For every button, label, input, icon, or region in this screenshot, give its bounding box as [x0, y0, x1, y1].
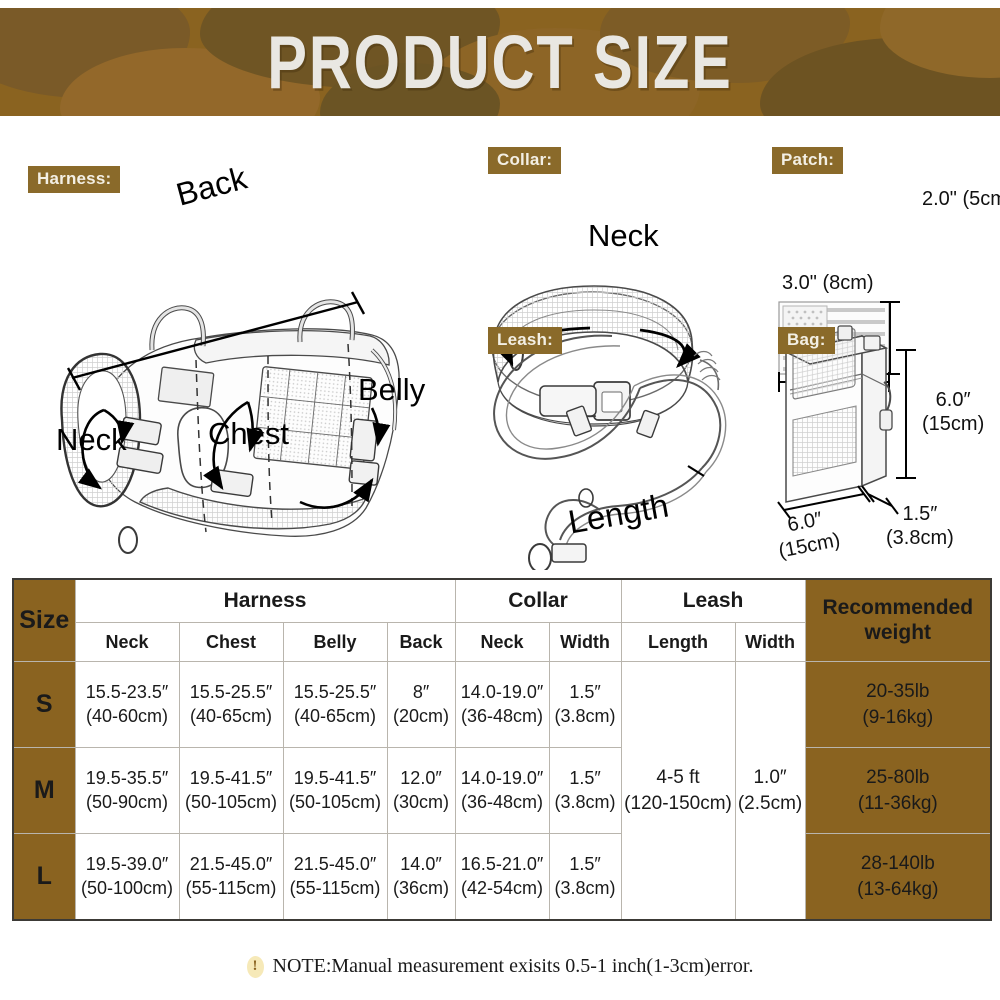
cell-m-harness-back: 12.0″ (30cm)	[387, 748, 455, 834]
bag-section-label: Bag:	[778, 327, 835, 354]
row-size-m: M	[13, 748, 75, 834]
harness-section-label: Harness:	[28, 166, 120, 193]
cell-m-weight: 25-80lb (11-36kg)	[805, 748, 991, 834]
header-group-leash: Leash	[621, 579, 805, 623]
bag-height-line1: 6.0″	[936, 389, 971, 411]
cell-line-in: 15.5-23.5″	[77, 681, 178, 704]
cell-s-harness-belly: 15.5-25.5″ (40-65cm)	[283, 662, 387, 748]
cell-line-cm: (30cm)	[389, 791, 454, 814]
page-header-banner: PRODUCT SIZE	[0, 8, 1000, 116]
cell-line-in: 19.5-41.5″	[285, 767, 386, 790]
header-group-collar: Collar	[455, 579, 621, 623]
cell-l-weight: 28-140lb (13-64kg)	[805, 834, 991, 921]
table-row: L 19.5-39.0″ (50-100cm) 21.5-45.0″ (55-1…	[13, 834, 991, 921]
reco-header-line1: Recommended	[807, 596, 990, 620]
cell-s-harness-chest: 15.5-25.5″ (40-65cm)	[179, 662, 283, 748]
cell-l-harness-belly: 21.5-45.0″ (55-115cm)	[283, 834, 387, 921]
cell-line-in: 16.5-21.0″	[457, 853, 548, 876]
row-size-l: L	[13, 834, 75, 921]
collar-neck-label: Neck	[588, 218, 659, 254]
cell-s-weight: 20-35lb (9-16kg)	[805, 662, 991, 748]
harness-chest-label: Chest	[208, 416, 289, 452]
subheader-harness-chest: Chest	[179, 623, 283, 662]
exclamation-icon: !	[247, 956, 264, 978]
collar-section-label: Collar:	[488, 147, 561, 174]
subheader-leash-width: Width	[735, 623, 805, 662]
cell-line-in: 21.5-45.0″	[181, 853, 282, 876]
cell-line-cm: (50-105cm)	[181, 791, 282, 814]
product-diagram-area: Harness: Collar: Patch: Leash: Bag: Back…	[0, 120, 1000, 570]
cell-line-in: 19.5-41.5″	[181, 767, 282, 790]
bag-depth-line1: 1.5″	[902, 503, 937, 525]
subheader-leash-length: Length	[621, 623, 735, 662]
cell-line-cm: (3.8cm)	[551, 877, 620, 900]
reco-header-line2: weight	[807, 621, 990, 645]
cell-line-cm: (20cm)	[389, 705, 454, 728]
cell-line-in: 21.5-45.0″	[285, 853, 386, 876]
weight-lb: 28-140lb	[807, 851, 990, 877]
leash-width-line1: 1.0″	[737, 765, 804, 791]
row-size-s: S	[13, 662, 75, 748]
subheader-collar-neck: Neck	[455, 623, 549, 662]
cell-s-collar-neck: 14.0-19.0″ (36-48cm)	[455, 662, 549, 748]
cell-m-harness-belly: 19.5-41.5″ (50-105cm)	[283, 748, 387, 834]
cell-line-in: 15.5-25.5″	[181, 681, 282, 704]
cell-line-in: 15.5-25.5″	[285, 681, 386, 704]
weight-lb: 25-80lb	[807, 765, 990, 791]
cell-line-cm: (42-54cm)	[457, 877, 548, 900]
table-row: M 19.5-35.5″ (50-90cm) 19.5-41.5″ (50-10…	[13, 748, 991, 834]
leash-width-line2: (2.5cm)	[737, 791, 804, 817]
cell-line-in: 1.5″	[551, 853, 620, 876]
cell-s-collar-width: 1.5″ (3.8cm)	[549, 662, 621, 748]
cell-m-collar-width: 1.5″ (3.8cm)	[549, 748, 621, 834]
cell-line-cm: (50-105cm)	[285, 791, 386, 814]
harness-belly-label: Belly	[358, 372, 425, 408]
cell-s-harness-back: 8″ (20cm)	[387, 662, 455, 748]
cell-l-harness-back: 14.0″ (36cm)	[387, 834, 455, 921]
bag-height-dimension	[896, 350, 916, 478]
cell-line-in: 14.0-19.0″	[457, 767, 548, 790]
cell-line-cm: (40-60cm)	[77, 705, 178, 728]
cell-line-in: 12.0″	[389, 767, 454, 790]
cell-l-harness-chest: 21.5-45.0″ (55-115cm)	[179, 834, 283, 921]
size-chart-table: Size Harness Collar Leash Recommended we…	[12, 578, 992, 921]
cell-line-cm: (55-115cm)	[181, 877, 282, 900]
patch-height-dimension-text: 2.0" (5cm)	[922, 188, 1000, 211]
bag-depth-dimension-text: 1.5″ (3.8cm)	[886, 502, 954, 550]
cell-line-cm: (36-48cm)	[457, 705, 548, 728]
subheader-collar-width: Width	[549, 623, 621, 662]
weight-kg: (9-16kg)	[807, 705, 990, 731]
cell-line-cm: (40-65cm)	[285, 705, 386, 728]
cell-l-collar-width: 1.5″ (3.8cm)	[549, 834, 621, 921]
cell-line-cm: (40-65cm)	[181, 705, 282, 728]
patch-section-label: Patch:	[772, 147, 843, 174]
cell-m-harness-chest: 19.5-41.5″ (50-105cm)	[179, 748, 283, 834]
cell-m-harness-neck: 19.5-35.5″ (50-90cm)	[75, 748, 179, 834]
leash-length-line1: 4-5 ft	[623, 765, 734, 791]
collar-illustration	[492, 286, 693, 426]
bag-height-dimension-text: 6.0″ (15cm)	[922, 388, 984, 436]
cell-l-collar-neck: 16.5-21.0″ (42-54cm)	[455, 834, 549, 921]
page-title: PRODUCT SIZE	[35, 8, 965, 116]
cell-s-harness-neck: 15.5-23.5″ (40-60cm)	[75, 662, 179, 748]
cell-leash-length-merged: 4-5 ft (120-150cm)	[621, 662, 735, 921]
leash-section-label: Leash:	[488, 327, 562, 354]
table-header-row-groups: Size Harness Collar Leash Recommended we…	[13, 579, 991, 623]
subheader-harness-neck: Neck	[75, 623, 179, 662]
cell-line-cm: (50-100cm)	[77, 877, 178, 900]
cell-line-in: 8″	[389, 681, 454, 704]
cell-line-in: 1.5″	[551, 767, 620, 790]
leash-length-line2: (120-150cm)	[623, 791, 734, 817]
weight-kg: (13-64kg)	[807, 877, 990, 903]
bag-height-line2: (15cm)	[922, 413, 984, 435]
cell-line-cm: (36-48cm)	[457, 791, 548, 814]
cell-line-cm: (3.8cm)	[551, 705, 620, 728]
harness-neck-label: Neck	[56, 422, 127, 458]
cell-line-cm: (36cm)	[389, 877, 454, 900]
cell-line-in: 14.0″	[389, 853, 454, 876]
cell-line-in: 19.5-39.0″	[77, 853, 178, 876]
cell-line-in: 14.0-19.0″	[457, 681, 548, 704]
measurement-note: ! NOTE:Manual measurement exisits 0.5-1 …	[0, 955, 1000, 978]
cell-line-in: 19.5-35.5″	[77, 767, 178, 790]
cell-line-cm: (3.8cm)	[551, 791, 620, 814]
header-size: Size	[13, 579, 75, 662]
cell-line-in: 1.5″	[551, 681, 620, 704]
cell-leash-width-merged: 1.0″ (2.5cm)	[735, 662, 805, 921]
header-group-harness: Harness	[75, 579, 455, 623]
patch-width-dimension-text: 3.0" (8cm)	[782, 272, 874, 295]
header-recommended-weight: Recommended weight	[805, 579, 991, 662]
cell-l-harness-neck: 19.5-39.0″ (50-100cm)	[75, 834, 179, 921]
bag-depth-line2: (3.8cm)	[886, 527, 954, 549]
cell-line-cm: (55-115cm)	[285, 877, 386, 900]
weight-kg: (11-36kg)	[807, 791, 990, 817]
cell-line-cm: (50-90cm)	[77, 791, 178, 814]
subheader-harness-back: Back	[387, 623, 455, 662]
note-text: NOTE:Manual measurement exisits 0.5-1 in…	[273, 955, 754, 978]
subheader-harness-belly: Belly	[283, 623, 387, 662]
table-row: S 15.5-23.5″ (40-60cm) 15.5-25.5″ (40-65…	[13, 662, 991, 748]
size-table-wrapper: Size Harness Collar Leash Recommended we…	[12, 578, 990, 921]
cell-m-collar-neck: 14.0-19.0″ (36-48cm)	[455, 748, 549, 834]
weight-lb: 20-35lb	[807, 679, 990, 705]
